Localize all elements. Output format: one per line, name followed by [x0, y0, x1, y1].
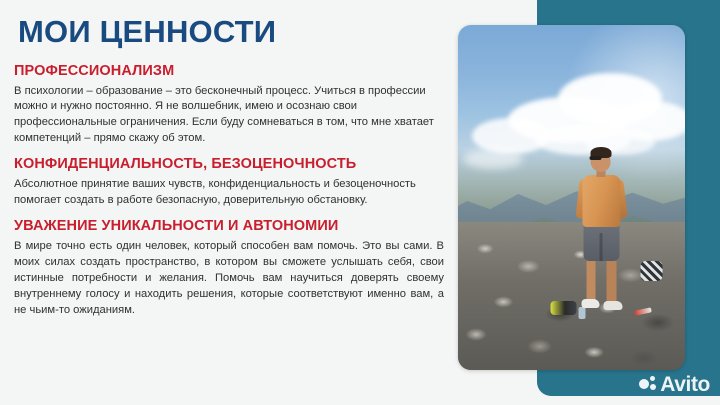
gear-bag-icon — [550, 301, 576, 315]
person-shorts — [583, 223, 619, 261]
bottle-icon — [578, 307, 585, 319]
text-content: МОИ ЦЕННОСТИ ПРОФЕССИОНАЛИЗМ В психологи… — [14, 10, 444, 328]
cloud-icon — [463, 149, 523, 169]
person-shoe-right — [603, 301, 622, 310]
section-heading: КОНФИДЕНЦИАЛЬНОСТЬ, БЕЗОЦЕНОЧНОСТЬ — [14, 156, 444, 172]
section-confidentiality: КОНФИДЕНЦИАЛЬНОСТЬ, БЕЗОЦЕНОЧНОСТЬ Абсол… — [14, 156, 444, 209]
section-autonomy: УВАЖЕНИЕ УНИКАЛЬНОСТИ И АВТОНОМИИ В мире… — [14, 218, 444, 319]
backpack-icon — [640, 261, 662, 281]
section-heading: ПРОФЕССИОНАЛИЗМ — [14, 63, 444, 79]
page-title: МОИ ЦЕННОСТИ — [18, 16, 444, 49]
section-body: В мире точно есть один человек, который … — [14, 239, 444, 319]
section-body: В психологии – образование – это бесконе… — [14, 84, 444, 148]
photo-frame — [458, 25, 685, 370]
section-heading: УВАЖЕНИЕ УНИКАЛЬНОСТИ И АВТОНОМИИ — [14, 218, 444, 234]
avito-wordmark: Avito — [660, 374, 710, 395]
person-leg-left — [586, 259, 595, 303]
slide-root: Avito МОИ ЦЕННОСТИ ПРОФЕССИОНАЛИЗМ В пси… — [0, 0, 720, 405]
person-leg-right — [606, 259, 616, 303]
section-body: Абсолютное принятие ваших чувств, конфид… — [14, 177, 444, 209]
person-figure — [560, 149, 642, 363]
section-professionalism: ПРОФЕССИОНАЛИЗМ В психологии – образован… — [14, 63, 444, 148]
sunglasses-icon — [589, 156, 601, 160]
avito-watermark: Avito — [639, 374, 710, 395]
person-torso — [582, 175, 620, 227]
avito-dots-icon — [639, 376, 656, 393]
media-area: Avito — [440, 0, 720, 405]
photo-image — [458, 25, 685, 370]
person-shoe-left — [581, 299, 599, 308]
